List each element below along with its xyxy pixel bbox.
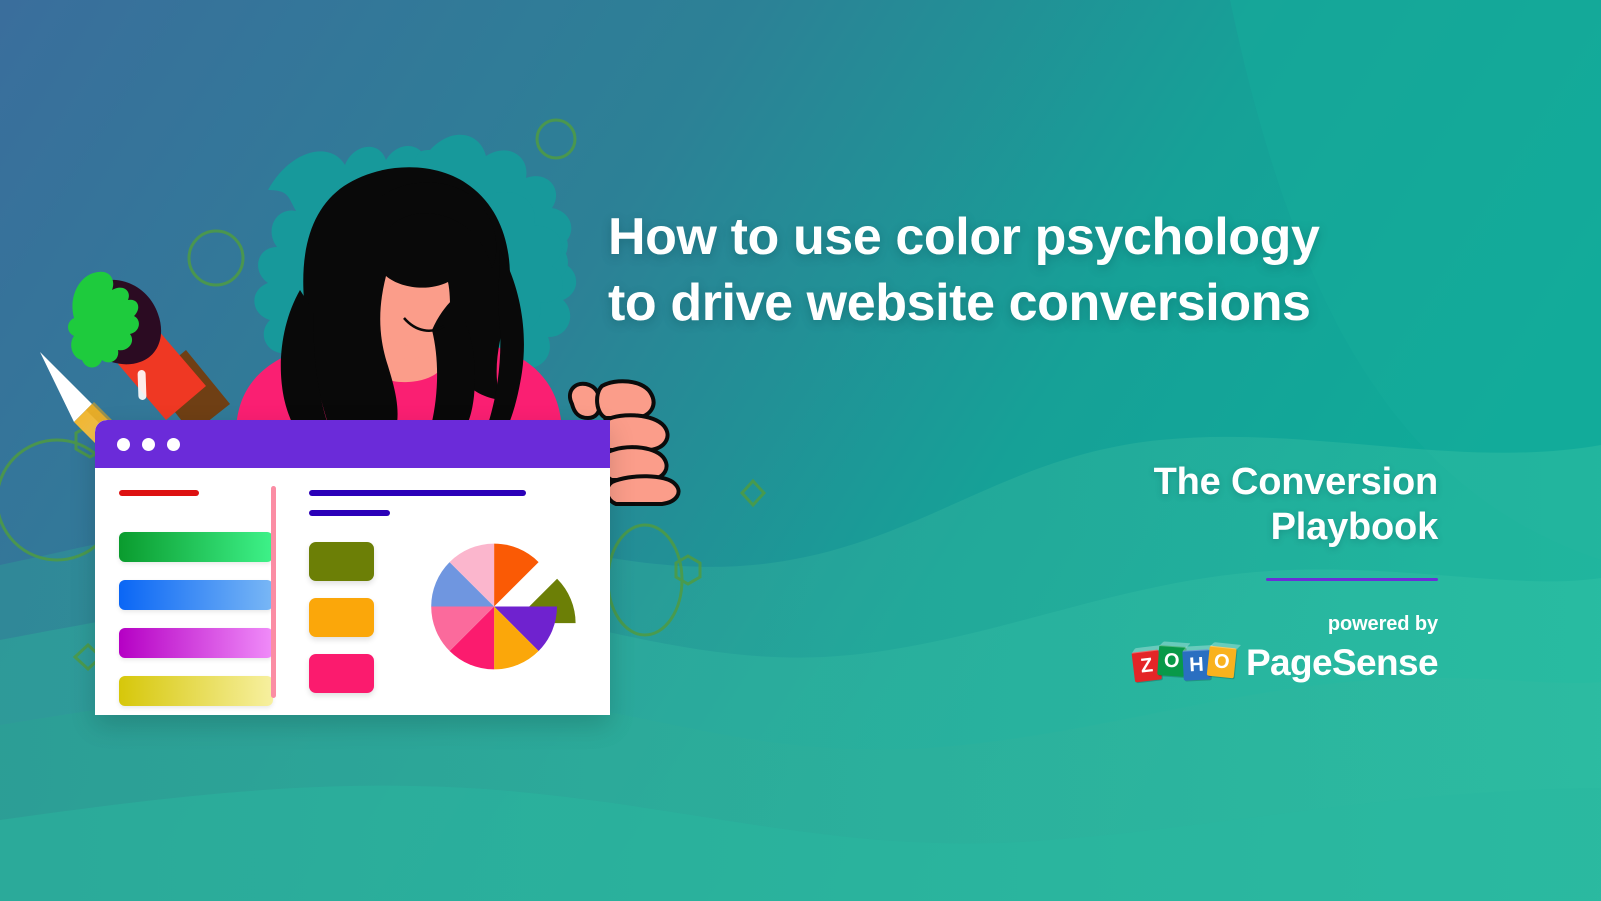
right-pane [309, 490, 610, 715]
long-rule [309, 490, 526, 496]
blue-gradient-bar[interactable] [119, 580, 273, 610]
pane-divider [271, 486, 276, 698]
pie-slice-orange [494, 544, 538, 607]
browser-titlebar [95, 420, 610, 468]
short-rule [309, 510, 390, 516]
window-dot-3[interactable] [167, 438, 180, 451]
browser-mockup[interactable] [95, 420, 610, 715]
olive-card[interactable] [309, 542, 374, 581]
window-dot-1[interactable] [117, 438, 130, 451]
pink-card[interactable] [309, 654, 374, 693]
ebook-title: The Conversion Playbook [1018, 460, 1438, 550]
pie-chart[interactable] [409, 514, 594, 699]
zoho-letter-o2: O [1207, 646, 1237, 679]
left-pane [119, 490, 273, 706]
zoho-logo-icon[interactable]: Z O H O [1133, 645, 1235, 679]
yellow-gradient-bar[interactable] [119, 676, 273, 706]
powered-by-label: powered by [1018, 613, 1438, 636]
page-title: How to use color psychology to drive web… [608, 205, 1468, 336]
amber-card[interactable] [309, 598, 374, 637]
pie-chart-svg [409, 514, 594, 699]
banner-canvas: How to use color psychology to drive web… [0, 0, 1601, 901]
magenta-gradient-bar[interactable] [119, 628, 273, 658]
logo-row[interactable]: Z O H O PageSense [1018, 644, 1438, 681]
brand-divider [1266, 578, 1438, 581]
pie-slices [431, 544, 575, 670]
window-dot-2[interactable] [142, 438, 155, 451]
zoho-letter-h: H [1182, 649, 1211, 680]
green-gradient-bar[interactable] [119, 532, 273, 562]
heading-rule-red [119, 490, 199, 496]
brand-block: The Conversion Playbook powered by Z O H… [1018, 460, 1438, 681]
product-name: PageSense [1246, 644, 1438, 681]
brush-ferrule-highlight [137, 370, 146, 400]
browser-content [95, 468, 610, 715]
